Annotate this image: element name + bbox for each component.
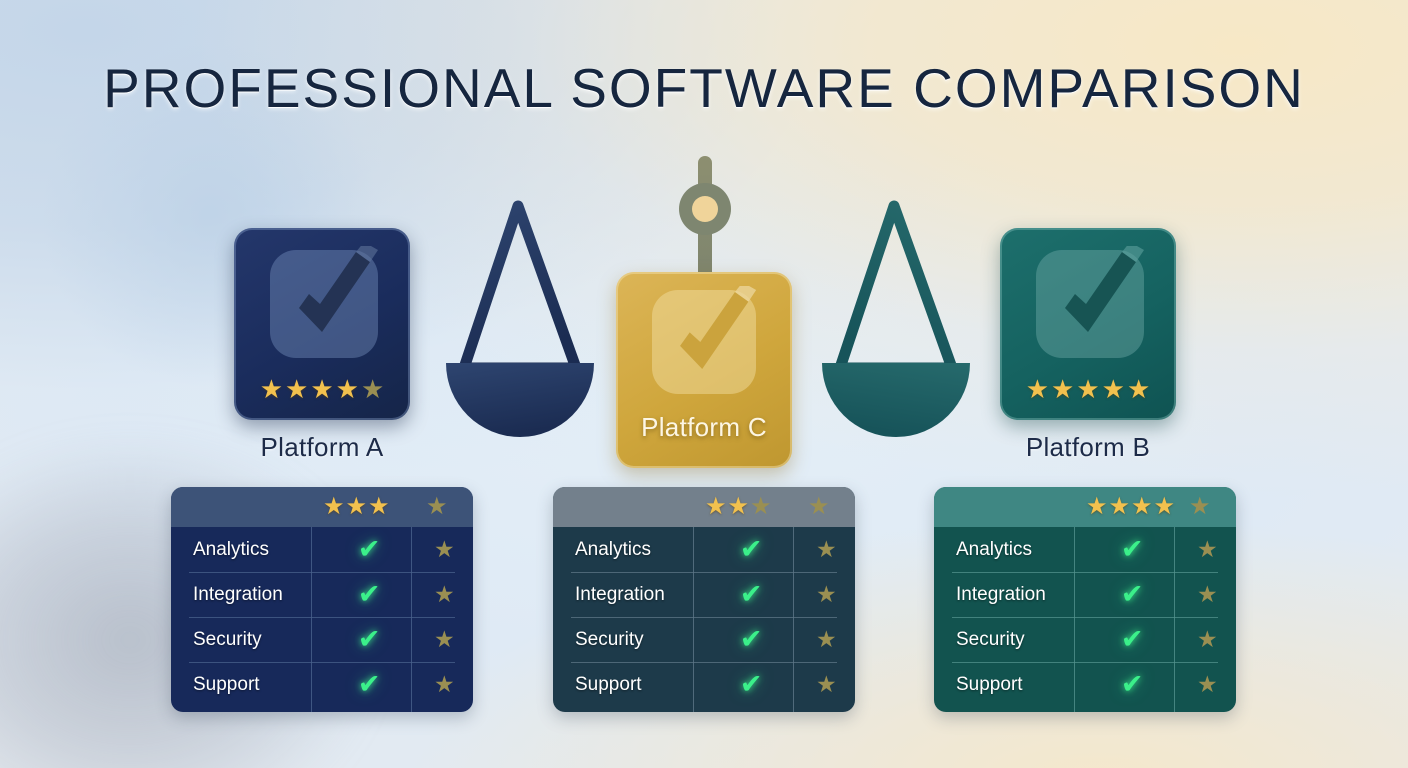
platform-card-b[interactable]: ★★★★★ [1000, 228, 1176, 420]
feature-supported-cell: ✔ [1086, 671, 1179, 698]
star-icon-dim: ★ [1197, 628, 1218, 651]
feature-name: Support [553, 674, 705, 696]
feature-rating-cell: ★ [1179, 673, 1236, 696]
table-row[interactable]: Integration✔★ [171, 572, 473, 617]
feature-rating-cell: ★ [416, 583, 473, 606]
feature-rating-cell: ★ [1179, 628, 1236, 651]
star-icon-dim: ★ [1189, 495, 1211, 519]
star-icon: ★ [336, 376, 359, 402]
row-divider [952, 662, 1218, 663]
feature-supported-cell: ✔ [323, 536, 416, 563]
column-divider [793, 527, 794, 712]
star-icon: ★ [310, 376, 333, 402]
table-row[interactable]: Integration✔★ [553, 572, 855, 617]
row-divider [189, 662, 455, 663]
star-icon: ★ [1076, 376, 1099, 402]
star-icon: ★ [361, 376, 384, 402]
feature-supported-cell: ✔ [705, 626, 798, 653]
comparison-infographic: PROFESSIONAL SOFTWARE COMPARISON [0, 0, 1408, 768]
feature-table-b[interactable]: ★★★★★Analytics✔★Integration✔★Security✔★S… [934, 487, 1236, 712]
column-divider [1074, 527, 1075, 712]
star-icon: ★ [1051, 376, 1074, 402]
star-icon-dim: ★ [750, 495, 772, 519]
feature-rating-cell: ★ [1179, 583, 1236, 606]
feature-rating-cell: ★ [798, 583, 855, 606]
star-icon-dim: ★ [1197, 538, 1218, 561]
table-row[interactable]: Security✔★ [934, 617, 1236, 662]
check-icon: ✔ [740, 626, 763, 653]
platform-card-a[interactable]: ★★★★★ [234, 228, 410, 420]
star-icon-dim: ★ [1197, 673, 1218, 696]
feature-supported-cell: ✔ [705, 536, 798, 563]
star-icon: ★ [1131, 495, 1153, 519]
feature-table-a[interactable]: ★★★★Analytics✔★Integration✔★Security✔★Su… [171, 487, 473, 712]
feature-supported-cell: ✔ [1086, 536, 1179, 563]
check-icon: ✔ [740, 581, 763, 608]
feature-table-c[interactable]: ★★★★Analytics✔★Integration✔★Security✔★Su… [553, 487, 855, 712]
check-icon: ✔ [1121, 671, 1144, 698]
feature-rating-cell: ★ [798, 538, 855, 561]
header-rating-stars: ★★★ [705, 495, 772, 519]
star-icon: ★ [1109, 495, 1131, 519]
table-row[interactable]: Support✔★ [171, 662, 473, 707]
check-icon-c [656, 286, 760, 400]
header-rating-star-single: ★ [808, 495, 830, 519]
header-rating-star-single: ★ [1189, 495, 1211, 519]
star-icon-dim: ★ [1197, 583, 1218, 606]
feature-name: Analytics [171, 539, 323, 561]
feature-rating-cell: ★ [1179, 538, 1236, 561]
feature-supported-cell: ✔ [323, 581, 416, 608]
star-icon: ★ [260, 376, 283, 402]
star-icon: ★ [1102, 376, 1125, 402]
page-title: PROFESSIONAL SOFTWARE COMPARISON [0, 56, 1408, 120]
feature-name: Support [934, 674, 1086, 696]
column-divider [1174, 527, 1175, 712]
star-icon-dim: ★ [434, 673, 455, 696]
feature-name: Security [934, 629, 1086, 651]
row-divider [571, 572, 837, 573]
feature-name: Analytics [934, 539, 1086, 561]
platform-label-c: Platform C [616, 412, 792, 443]
star-icon-dim: ★ [816, 673, 837, 696]
column-divider [411, 527, 412, 712]
table-header-row: ★★★★ [553, 487, 855, 527]
table-row[interactable]: Integration✔★ [934, 572, 1236, 617]
feature-name: Integration [553, 584, 705, 606]
feature-rating-cell: ★ [798, 673, 855, 696]
table-row[interactable]: Support✔★ [553, 662, 855, 707]
table-row[interactable]: Analytics✔★ [171, 527, 473, 572]
star-icon-dim: ★ [434, 538, 455, 561]
table-row[interactable]: Support✔★ [934, 662, 1236, 707]
feature-name: Security [553, 629, 705, 651]
feature-supported-cell: ✔ [705, 581, 798, 608]
star-icon: ★ [1086, 495, 1108, 519]
star-icon: ★ [1026, 376, 1049, 402]
star-icon-dim: ★ [434, 583, 455, 606]
feature-supported-cell: ✔ [323, 626, 416, 653]
feature-supported-cell: ✔ [323, 671, 416, 698]
feature-supported-cell: ✔ [705, 671, 798, 698]
column-divider [693, 527, 694, 712]
row-divider [571, 662, 837, 663]
table-row[interactable]: Security✔★ [171, 617, 473, 662]
table-row[interactable]: Analytics✔★ [934, 527, 1236, 572]
star-icon: ★ [728, 495, 750, 519]
feature-rating-cell: ★ [798, 628, 855, 651]
table-row[interactable]: Security✔★ [553, 617, 855, 662]
header-rating-star-single: ★ [426, 495, 448, 519]
check-icon: ✔ [740, 536, 763, 563]
check-icon-a [274, 246, 382, 364]
feature-rating-cell: ★ [416, 673, 473, 696]
star-icon-dim: ★ [808, 495, 830, 519]
header-rating-stars: ★★★★ [1086, 495, 1175, 519]
feature-name: Integration [171, 584, 323, 606]
feature-rating-cell: ★ [416, 538, 473, 561]
star-icon: ★ [368, 495, 390, 519]
star-icon-dim: ★ [816, 538, 837, 561]
star-icon-dim: ★ [816, 628, 837, 651]
star-icon-dim: ★ [816, 583, 837, 606]
check-icon: ✔ [1121, 581, 1144, 608]
feature-rating-cell: ★ [416, 628, 473, 651]
check-icon: ✔ [358, 626, 381, 653]
check-icon: ✔ [358, 581, 381, 608]
check-icon: ✔ [740, 671, 763, 698]
table-row[interactable]: Analytics✔★ [553, 527, 855, 572]
check-icon: ✔ [358, 536, 381, 563]
check-icon: ✔ [1121, 536, 1144, 563]
star-icon-dim: ★ [434, 628, 455, 651]
star-icon-dim: ★ [426, 495, 448, 519]
star-icon: ★ [1127, 376, 1150, 402]
row-divider [571, 617, 837, 618]
rating-stars-a: ★★★★★ [234, 376, 410, 402]
check-icon: ✔ [1121, 626, 1144, 653]
row-divider [189, 617, 455, 618]
table-header-row: ★★★★★ [934, 487, 1236, 527]
platform-label-b: Platform B [1000, 432, 1176, 463]
row-divider [952, 617, 1218, 618]
check-icon: ✔ [358, 671, 381, 698]
rating-stars-b: ★★★★★ [1000, 376, 1176, 402]
platform-card-c[interactable]: Platform C [616, 272, 792, 468]
platform-label-a: Platform A [234, 432, 410, 463]
feature-supported-cell: ✔ [1086, 626, 1179, 653]
star-icon: ★ [285, 376, 308, 402]
check-icon-b [1040, 246, 1148, 364]
star-icon: ★ [705, 495, 727, 519]
feature-name: Security [171, 629, 323, 651]
row-divider [952, 572, 1218, 573]
row-divider [189, 572, 455, 573]
feature-supported-cell: ✔ [1086, 581, 1179, 608]
star-icon: ★ [323, 495, 345, 519]
star-icon: ★ [346, 495, 368, 519]
star-icon: ★ [1154, 495, 1176, 519]
header-rating-stars: ★★★ [323, 495, 390, 519]
column-divider [311, 527, 312, 712]
feature-name: Integration [934, 584, 1086, 606]
feature-name: Support [171, 674, 323, 696]
feature-name: Analytics [553, 539, 705, 561]
table-header-row: ★★★★ [171, 487, 473, 527]
